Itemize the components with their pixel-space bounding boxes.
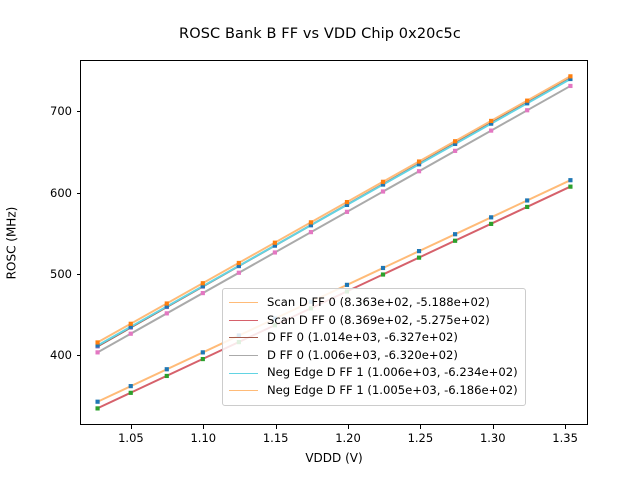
data-point [568, 185, 572, 189]
data-point [489, 119, 493, 123]
data-point [201, 291, 205, 295]
data-point [345, 210, 349, 214]
matplotlib-figure: ROSC Bank B FF vs VDD Chip 0x20c5c ROSC … [0, 0, 640, 480]
data-point [525, 205, 529, 209]
legend-color-swatch [229, 390, 258, 391]
x-tick-label: 1.05 [118, 431, 144, 445]
legend-item-0[interactable]: Scan D FF 0 (8.363e+02, -5.188e+02) [229, 294, 518, 312]
y-tick-label: 500 [50, 267, 72, 281]
data-point [525, 198, 529, 202]
legend-color-swatch [229, 355, 258, 356]
y-tick-label: 400 [50, 348, 72, 362]
data-point [237, 261, 241, 265]
data-point [95, 400, 99, 404]
data-point [417, 159, 421, 163]
y-axis-label-text: ROSC (MHz) [4, 206, 18, 279]
data-point [489, 215, 493, 219]
chart-title: ROSC Bank B FF vs VDD Chip 0x20c5c [0, 26, 640, 42]
data-point [237, 271, 241, 275]
legend-color-swatch [229, 320, 258, 321]
data-point [525, 108, 529, 112]
data-point [129, 332, 133, 336]
data-point [568, 178, 572, 182]
data-point [129, 384, 133, 388]
data-point [165, 367, 169, 371]
legend-rows: Scan D FF 0 (8.363e+02, -5.188e+02)Scan … [229, 294, 518, 400]
legend-item-label: Scan D FF 0 (8.363e+02, -5.188e+02) [267, 297, 490, 309]
data-point [95, 350, 99, 354]
data-point [525, 99, 529, 103]
x-tick-label: 1.15 [263, 431, 289, 445]
x-tick [348, 424, 349, 429]
data-point [568, 84, 572, 88]
data-point [489, 222, 493, 226]
y-tick-label: 700 [50, 104, 72, 118]
y-tick-label: 600 [50, 186, 72, 200]
legend-item-3[interactable]: D FF 0 (1.006e+03, -6.320e+02) [229, 347, 518, 365]
x-axis-label: VDDD (V) [80, 451, 588, 465]
x-tick-label: 1.35 [552, 431, 578, 445]
x-tick [131, 424, 132, 429]
legend-item-label: Neg Edge D FF 1 (1.006e+03, -6.234e+02) [267, 367, 518, 379]
legend-item-label: D FF 0 (1.006e+03, -6.320e+02) [267, 350, 458, 362]
legend-item-1[interactable]: Scan D FF 0 (8.369e+02, -5.275e+02) [229, 312, 518, 330]
data-point [381, 272, 385, 276]
x-tick-label: 1.25 [408, 431, 434, 445]
data-point [309, 230, 313, 234]
data-point [309, 220, 313, 224]
legend-item-label: Scan D FF 0 (8.369e+02, -5.275e+02) [267, 315, 490, 327]
legend-item-label: D FF 0 (1.014e+03, -6.327e+02) [267, 332, 458, 344]
data-point [345, 283, 349, 287]
x-tick [276, 424, 277, 429]
data-point [417, 249, 421, 253]
x-tick [203, 424, 204, 429]
data-point [129, 391, 133, 395]
data-point [273, 250, 277, 254]
y-tick [77, 355, 82, 356]
data-point [165, 374, 169, 378]
x-tick-label: 1.30 [480, 431, 506, 445]
legend-color-swatch [229, 302, 258, 303]
y-axis-label: ROSC (MHz) [0, 60, 22, 425]
legend-item-4[interactable]: Neg Edge D FF 1 (1.006e+03, -6.234e+02) [229, 364, 518, 382]
legend-item-2[interactable]: D FF 0 (1.014e+03, -6.327e+02) [229, 329, 518, 347]
y-tick [77, 274, 82, 275]
data-point [273, 241, 277, 245]
data-point [201, 357, 205, 361]
data-point [201, 281, 205, 285]
chart-legend[interactable]: Scan D FF 0 (8.363e+02, -5.188e+02)Scan … [222, 288, 526, 406]
x-tick [565, 424, 566, 429]
data-point [417, 169, 421, 173]
data-point [453, 232, 457, 236]
data-point [453, 139, 457, 143]
data-point [345, 200, 349, 204]
x-tick-label: 1.20 [335, 431, 361, 445]
data-point [381, 180, 385, 184]
data-point [129, 322, 133, 326]
data-point [568, 74, 572, 78]
data-point [165, 311, 169, 315]
data-point [95, 406, 99, 410]
legend-color-swatch [229, 373, 258, 374]
y-tick [77, 111, 82, 112]
data-point [201, 350, 205, 354]
x-tick [493, 424, 494, 429]
y-tick [77, 193, 82, 194]
data-point [381, 266, 385, 270]
data-point [95, 340, 99, 344]
data-point [381, 189, 385, 193]
data-point [417, 256, 421, 260]
data-point [453, 149, 457, 153]
legend-item-5[interactable]: Neg Edge D FF 1 (1.005e+03, -6.186e+02) [229, 382, 518, 400]
legend-color-swatch [229, 337, 258, 338]
data-point [453, 239, 457, 243]
legend-item-label: Neg Edge D FF 1 (1.005e+03, -6.186e+02) [267, 385, 518, 397]
data-point [489, 129, 493, 133]
x-tick-label: 1.10 [190, 431, 216, 445]
x-tick [420, 424, 421, 429]
data-point [165, 301, 169, 305]
